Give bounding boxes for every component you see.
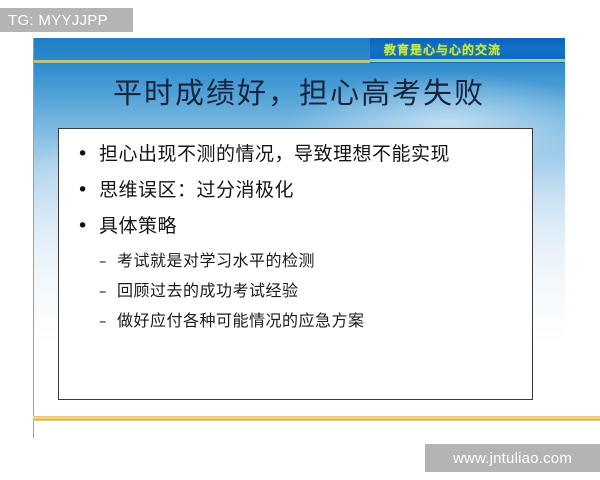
list-item: – 考试就是对学习水平的检测: [69, 249, 522, 273]
list-item: – 回顾过去的成功考试经验: [69, 279, 522, 303]
bullet-dash-icon: –: [69, 309, 117, 333]
list-item: • 具体策略: [69, 213, 522, 239]
sub-bullet-list: – 考试就是对学习水平的检测 – 回顾过去的成功考试经验 – 做好应付各种可能情…: [69, 249, 522, 333]
watermark-bottom-right: www.jntuliao.com: [425, 444, 600, 472]
bullet-dot-icon: •: [69, 177, 99, 203]
slide-title: 平时成绩好，担心高考失败: [33, 70, 565, 112]
bullet-list: • 担心出现不测的情况，导致理想不能实现 • 思维误区：过分消极化 • 具体策略…: [69, 141, 522, 333]
header-banner-label: 教育是心与心的交流: [384, 41, 501, 58]
bullet-text: 具体策略: [99, 213, 177, 239]
sub-bullet-text: 考试就是对学习水平的检测: [117, 249, 315, 273]
watermark-bottom-right-label: www.jntuliao.com: [453, 450, 572, 467]
presentation-slide: 教育是心与心的交流 平时成绩好，担心高考失败 • 担心出现不测的情况，导致理想不…: [33, 38, 565, 420]
watermark-top-left: TG: MYYJJPP: [0, 8, 133, 32]
header-banner-underline: [370, 59, 565, 62]
bullet-text: 思维误区：过分消极化: [99, 177, 294, 203]
list-item: • 思维误区：过分消极化: [69, 177, 522, 203]
bullet-dot-icon: •: [69, 213, 99, 239]
header-accent-rule: [33, 60, 370, 63]
bullet-dot-icon: •: [69, 141, 99, 167]
sub-bullet-text: 回顾过去的成功考试经验: [117, 279, 299, 303]
sub-bullet-text: 做好应付各种可能情况的应急方案: [117, 309, 365, 333]
footer-gold-rule: [33, 416, 600, 421]
bullet-dash-icon: –: [69, 279, 117, 303]
header-banner: 教育是心与心的交流: [370, 38, 565, 63]
slide-content-box: • 担心出现不测的情况，导致理想不能实现 • 思维误区：过分消极化 • 具体策略…: [58, 128, 533, 400]
page-left-edge: [33, 38, 34, 438]
bullet-text: 担心出现不测的情况，导致理想不能实现: [99, 141, 450, 167]
watermark-top-left-label: TG: MYYJJPP: [8, 12, 108, 29]
bullet-dash-icon: –: [69, 249, 117, 273]
list-item: – 做好应付各种可能情况的应急方案: [69, 309, 522, 333]
list-item: • 担心出现不测的情况，导致理想不能实现: [69, 141, 522, 167]
